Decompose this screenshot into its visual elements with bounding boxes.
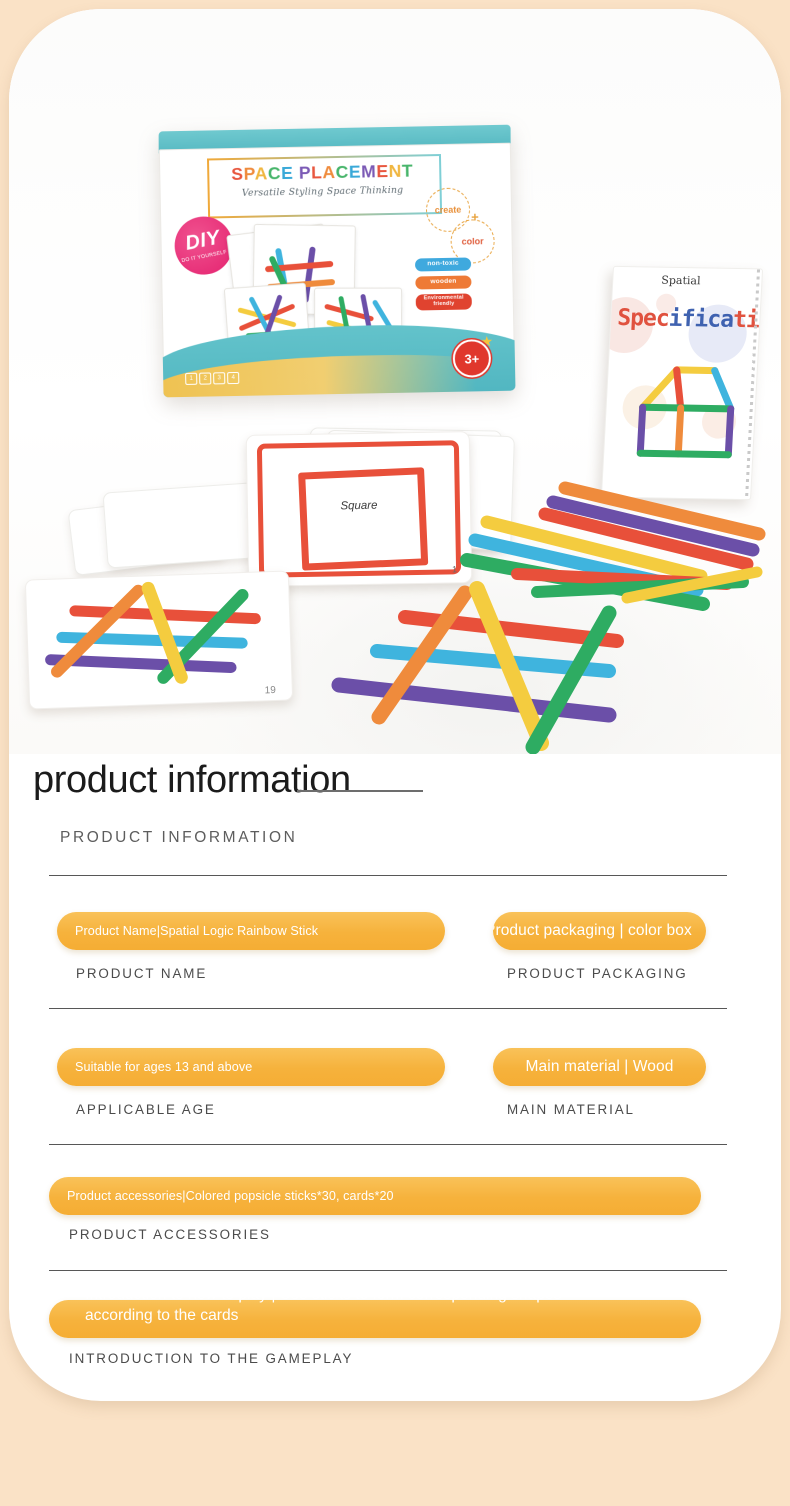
divider (49, 1008, 727, 1009)
spec-pill-text: Main material | Wood (526, 1058, 674, 1076)
spec-card-eyebrow: Spatial (661, 274, 701, 288)
product-information-section: product information PRODUCT INFORMATION … (9, 754, 781, 1401)
product-box: SPACE PLACEMENT Versatile Styling Space … (154, 125, 521, 400)
feature-badge-eco: Environmental friendly (416, 293, 472, 310)
spec-pill-product-accessories[interactable]: Product accessories|Colored popsicle sti… (49, 1177, 701, 1215)
house-diagram (609, 349, 763, 471)
title-strikethrough (297, 790, 423, 792)
page-title: product information (33, 759, 351, 802)
spec-pill-text: Product accessories|Colored popsicle sti… (67, 1189, 394, 1203)
feature-badge-non-toxic: non-toxic (415, 257, 471, 271)
spec-caption-product-name: PRODUCT NAME (76, 966, 207, 981)
spec-pill-text: Product packaging | color box (493, 922, 692, 940)
spec-caption-main-material: MAIN MATERIAL (507, 1102, 635, 1117)
divider (49, 875, 727, 876)
product-detail-card: Spatial Specification (9, 9, 781, 1401)
spec-pill-product-name[interactable]: Product Name|Spatial Logic Rainbow Stick (57, 912, 445, 950)
box-title: SPACE PLACEMENT (211, 162, 433, 184)
divider (49, 1270, 727, 1271)
pattern-card-number: 19 (265, 685, 277, 696)
number-tile: 3 (213, 372, 225, 384)
square-shape (298, 467, 428, 570)
spec-caption-gameplay: INTRODUCTION TO THE GAMEPLAY (69, 1351, 353, 1366)
number-tile: 2 (199, 372, 211, 384)
spec-pill-text: Suitable for ages 13 and above (75, 1060, 252, 1074)
spec-pill-gameplay[interactable]: Introduction to how to play | Use sticks… (49, 1300, 701, 1338)
page-subtitle: PRODUCT INFORMATION (60, 829, 297, 847)
feature-badge-wooden: wooden (415, 275, 471, 289)
number-tile: 1 (185, 373, 197, 385)
pattern-card-19: 19 (25, 570, 293, 709)
spec-card-title: Specification (617, 305, 763, 334)
square-pattern-card: Square 1 (246, 431, 473, 587)
stick-figure-center (309, 575, 639, 754)
spec-pill-applicable-age[interactable]: Suitable for ages 13 and above (57, 1048, 445, 1086)
pattern-sticks (26, 571, 292, 708)
box-front-face: SPACE PLACEMENT Versatile Styling Space … (159, 143, 516, 398)
blank-card-stack (103, 481, 270, 568)
spec-pill-main-material[interactable]: Main material | Wood (493, 1048, 706, 1086)
spec-pill-text: Introduction to how to play | Use sticks… (67, 1285, 643, 1326)
spec-pill-product-packaging[interactable]: Product packaging | color box (493, 912, 706, 950)
spec-caption-applicable-age: APPLICABLE AGE (76, 1102, 216, 1117)
spec-caption-product-accessories: PRODUCT ACCESSORIES (69, 1227, 271, 1242)
spec-caption-product-packaging: PRODUCT PACKAGING (507, 966, 688, 981)
spec-pill-text: Product Name|Spatial Logic Rainbow Stick (75, 924, 318, 938)
number-tiles: 1 2 3 4 (185, 372, 239, 385)
number-tile: 4 (227, 372, 239, 384)
divider (49, 1144, 727, 1145)
product-photo: Spatial Specification (9, 9, 781, 754)
